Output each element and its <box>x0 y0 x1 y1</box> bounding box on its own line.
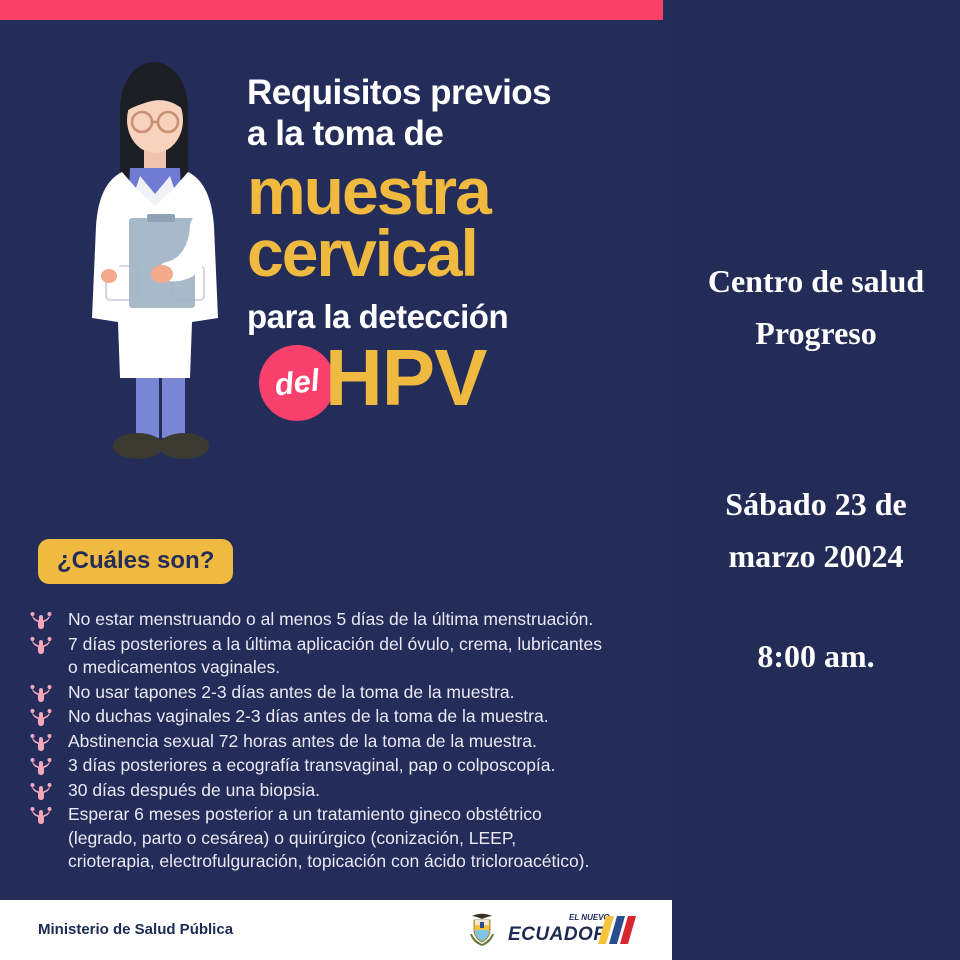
list-item: 3 días posteriores a ecografía transvagi… <box>30 754 650 778</box>
ecuador-coat-of-arms-icon <box>470 914 494 946</box>
ministry-label: Ministerio de Salud Pública <box>38 921 233 938</box>
list-item-text: Abstinencia sexual 72 horas antes de la … <box>68 730 537 754</box>
list-item-text: 7 días posteriores a la última aplicació… <box>68 633 602 680</box>
logo-top-label: EL NUEVO <box>569 913 611 922</box>
question-pill: ¿Cuáles son? <box>38 539 233 584</box>
list-item-text: No usar tapones 2-3 días antes de la tom… <box>68 681 515 705</box>
acronym-hpv: HPV <box>325 333 487 423</box>
list-item-text: Esperar 6 meses posterior a un tratamien… <box>68 803 589 874</box>
uterus-icon <box>30 730 68 752</box>
event-time: 8:00 am. <box>672 630 960 682</box>
ecuador-logo: EL NUEVO ECUADOR <box>466 908 636 954</box>
headline-block: Requisitos previos a la toma de muestra … <box>247 72 662 425</box>
event-place-line-2: Progreso <box>672 307 960 359</box>
uterus-icon <box>30 779 68 801</box>
event-time-value: 8:00 am. <box>672 630 960 682</box>
uterus-icon <box>30 754 68 776</box>
list-item: No duchas vaginales 2-3 días antes de la… <box>30 705 650 729</box>
headline-line-1: Requisitos previos <box>247 72 662 113</box>
uterus-icon <box>30 803 68 825</box>
list-item: 7 días posteriores a la última aplicació… <box>30 633 650 680</box>
footer-bar: Ministerio de Salud Pública EL NUEVO ECU… <box>0 900 672 960</box>
uterus-icon <box>30 633 68 655</box>
headline-line-2: a la toma de <box>247 113 662 154</box>
list-item-text: 30 días después de una biopsia. <box>68 779 320 803</box>
list-item: No usar tapones 2-3 días antes de la tom… <box>30 681 650 705</box>
del-badge: del <box>259 345 335 421</box>
headline-emphasis-1: muestra <box>247 160 662 222</box>
list-item: No estar menstruando o al menos 5 días d… <box>30 608 650 632</box>
event-date-line-2: marzo 20024 <box>672 530 960 582</box>
headline-line-3: para la detección <box>247 296 662 337</box>
list-item: Abstinencia sexual 72 horas antes de la … <box>30 730 650 754</box>
list-item-text: 3 días posteriores a ecografía transvagi… <box>68 754 555 778</box>
list-item-text: No duchas vaginales 2-3 días antes de la… <box>68 705 549 729</box>
uterus-icon <box>30 608 68 630</box>
uterus-icon <box>30 681 68 703</box>
headline-emphasis-2: cervical <box>247 222 662 284</box>
top-accent-strip <box>0 0 663 20</box>
list-item: Esperar 6 meses posterior a un tratamien… <box>30 803 650 874</box>
uterus-icon <box>30 705 68 727</box>
event-place-line-1: Centro de salud <box>672 255 960 307</box>
event-place: Centro de salud Progreso <box>672 255 960 359</box>
logo-main-label: ECUADOR <box>508 924 608 945</box>
list-item-text: No estar menstruando o al menos 5 días d… <box>68 608 593 632</box>
event-date-line-1: Sábado 23 de <box>672 478 960 530</box>
female-doctor-illustration <box>62 48 242 480</box>
event-date: Sábado 23 de marzo 20024 <box>672 478 960 582</box>
poster-root: Requisitos previos a la toma de muestra … <box>0 0 960 960</box>
acronym-row: del HPV <box>247 339 662 425</box>
list-item: 30 días después de una biopsia. <box>30 779 650 803</box>
requirements-list: No estar menstruando o al menos 5 días d… <box>30 608 650 875</box>
